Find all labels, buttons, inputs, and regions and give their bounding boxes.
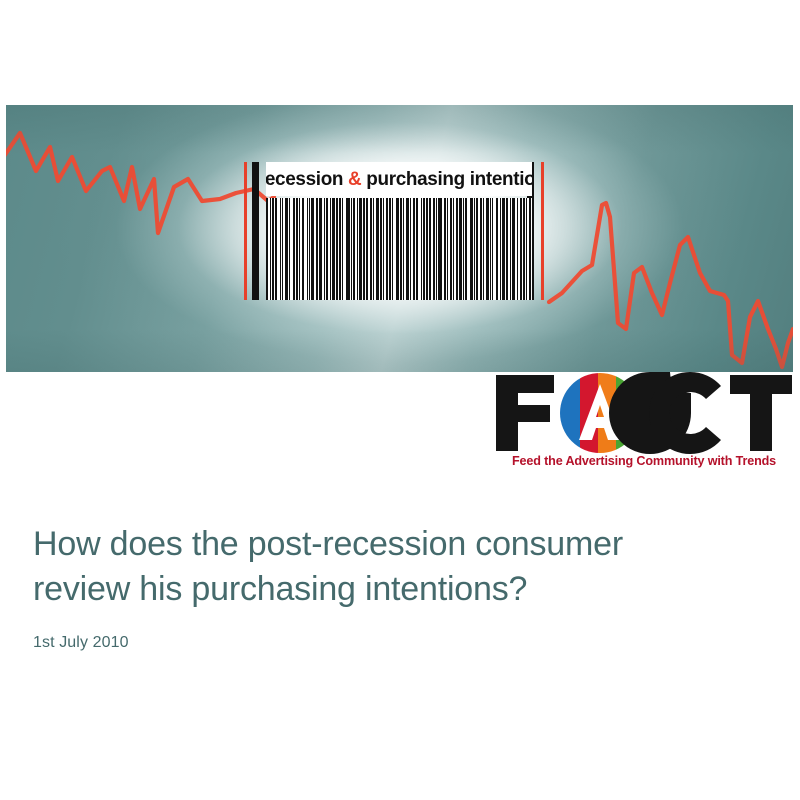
title-block: How does the post-recession consumer rev…: [33, 522, 763, 652]
barcode-gap: [531, 198, 532, 300]
barcode-ampersand: &: [348, 168, 361, 190]
barcode-guard-right-red: [541, 162, 544, 300]
page-title: How does the post-recession consumer rev…: [33, 522, 763, 612]
slide-date: 1st July 2010: [33, 634, 763, 652]
fact-tagline: Feed the Advertising Community with Tren…: [494, 454, 794, 468]
barcode-inner: Recession & purchasing intention: [244, 162, 554, 300]
barcode-label: Recession & purchasing intention: [266, 162, 532, 196]
barcode-label-text: Recession & purchasing intention: [266, 168, 532, 191]
fact-logo: Feed the Advertising Community with Tren…: [492, 372, 794, 472]
fact-letter-c-icon: [609, 372, 721, 454]
fact-letter-f-icon: [496, 375, 554, 451]
fact-wordmark-icon: [492, 372, 794, 454]
barcode-graphic: Recession & purchasing intention: [244, 162, 554, 300]
title-slide: Recession & purchasing intention: [0, 0, 800, 800]
barcode-bars: [266, 198, 532, 300]
fact-letter-t-icon: [730, 375, 792, 451]
barcode-guard-left-red: [244, 162, 247, 300]
barcode-guard-left-black: [252, 162, 259, 300]
